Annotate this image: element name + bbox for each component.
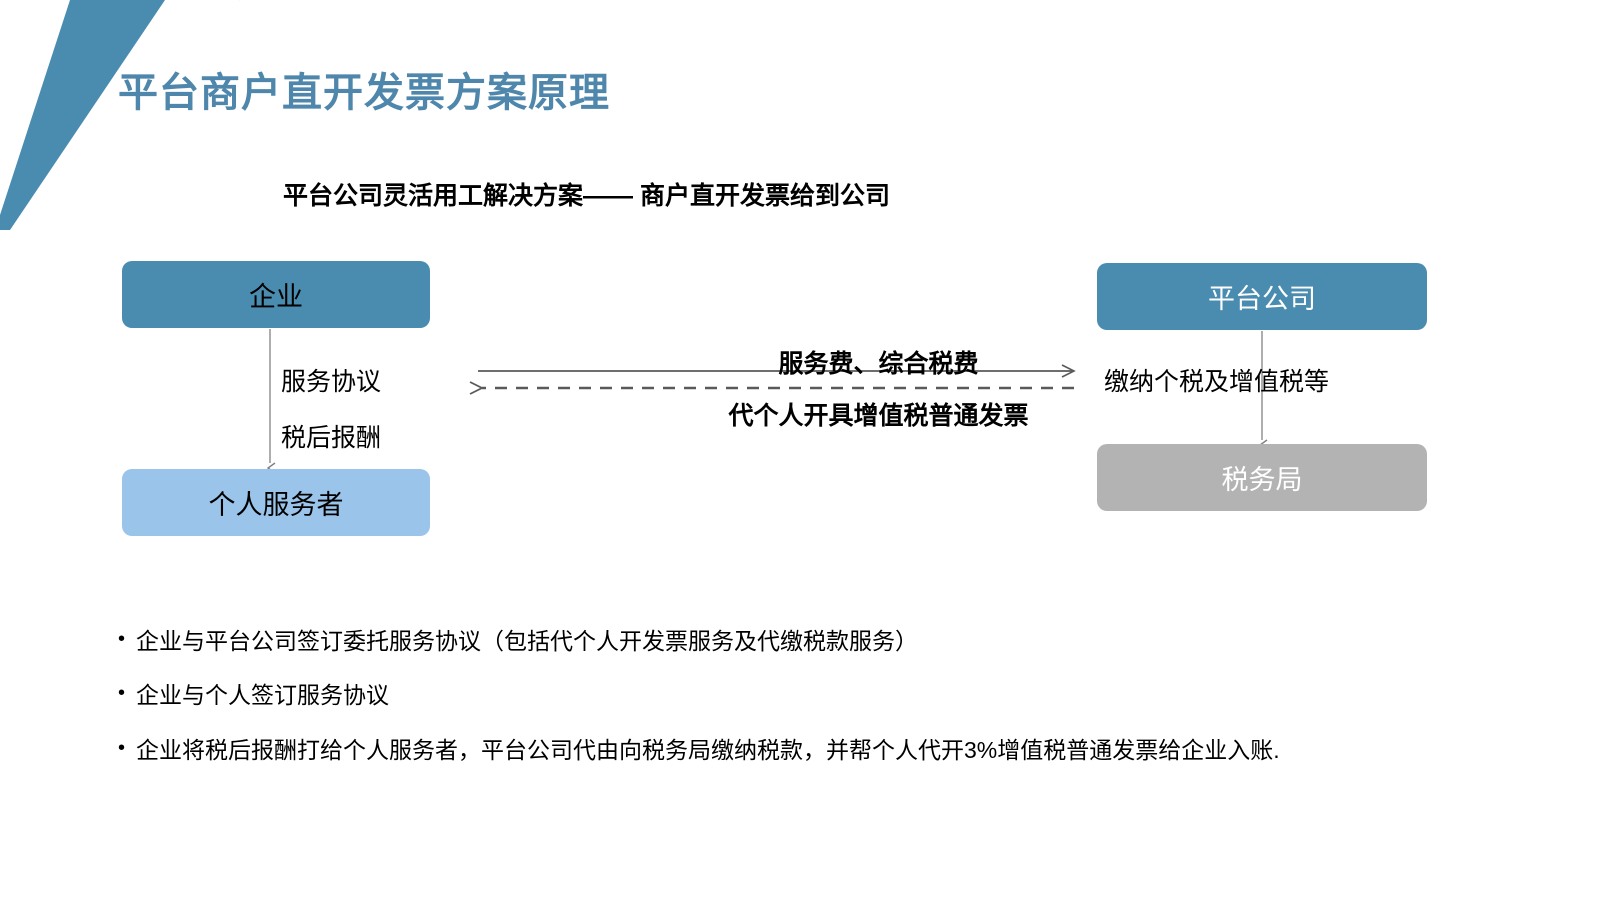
list-item-text: 企业与平台公司签订委托服务协议（包括代个人开发票服务及代缴税款服务） [136, 628, 918, 654]
list-item-text: 企业将税后报酬打给个人服务者，平台公司代由向税务局缴纳税款，并帮个人代开3%增值… [136, 737, 1280, 763]
bullet-list: • 企业与平台公司签订委托服务协议（包括代个人开发票服务及代缴税款服务） • 企… [118, 628, 1518, 791]
node-platform-company[interactable]: 平台公司 [1097, 263, 1427, 330]
page-subtitle: 平台公司灵活用工解决方案—— 商户直开发票给到公司 [283, 176, 890, 212]
node-enterprise[interactable]: 企业 [122, 261, 430, 328]
list-item: • 企业将税后报酬打给个人服务者，平台公司代由向税务局缴纳税款，并帮个人代开3%… [118, 737, 1518, 763]
node-enterprise-label: 企业 [249, 275, 303, 314]
label-fee-flow: 服务费、综合税费 [157, 344, 1600, 380]
list-item: • 企业与个人签订服务协议 [118, 682, 1518, 708]
bullet-marker-icon: • [118, 682, 136, 705]
node-individual-service-provider[interactable]: 个人服务者 [122, 469, 430, 536]
list-item: • 企业与平台公司签订委托服务协议（包括代个人开发票服务及代缴税款服务） [118, 628, 1518, 654]
bullet-marker-icon: • [118, 628, 136, 651]
node-tax-bureau[interactable]: 税务局 [1097, 444, 1427, 511]
label-invoice-flow: 代个人开具增值税普通发票 [157, 396, 1600, 432]
node-platform-label: 平台公司 [1208, 277, 1316, 316]
page-title: 平台商户直开发票方案原理 [118, 60, 610, 118]
bullet-marker-icon: • [118, 737, 136, 760]
list-item-text: 企业与个人签订服务协议 [136, 682, 389, 708]
node-individual-label: 个人服务者 [209, 483, 344, 522]
node-tax-bureau-label: 税务局 [1222, 458, 1303, 497]
